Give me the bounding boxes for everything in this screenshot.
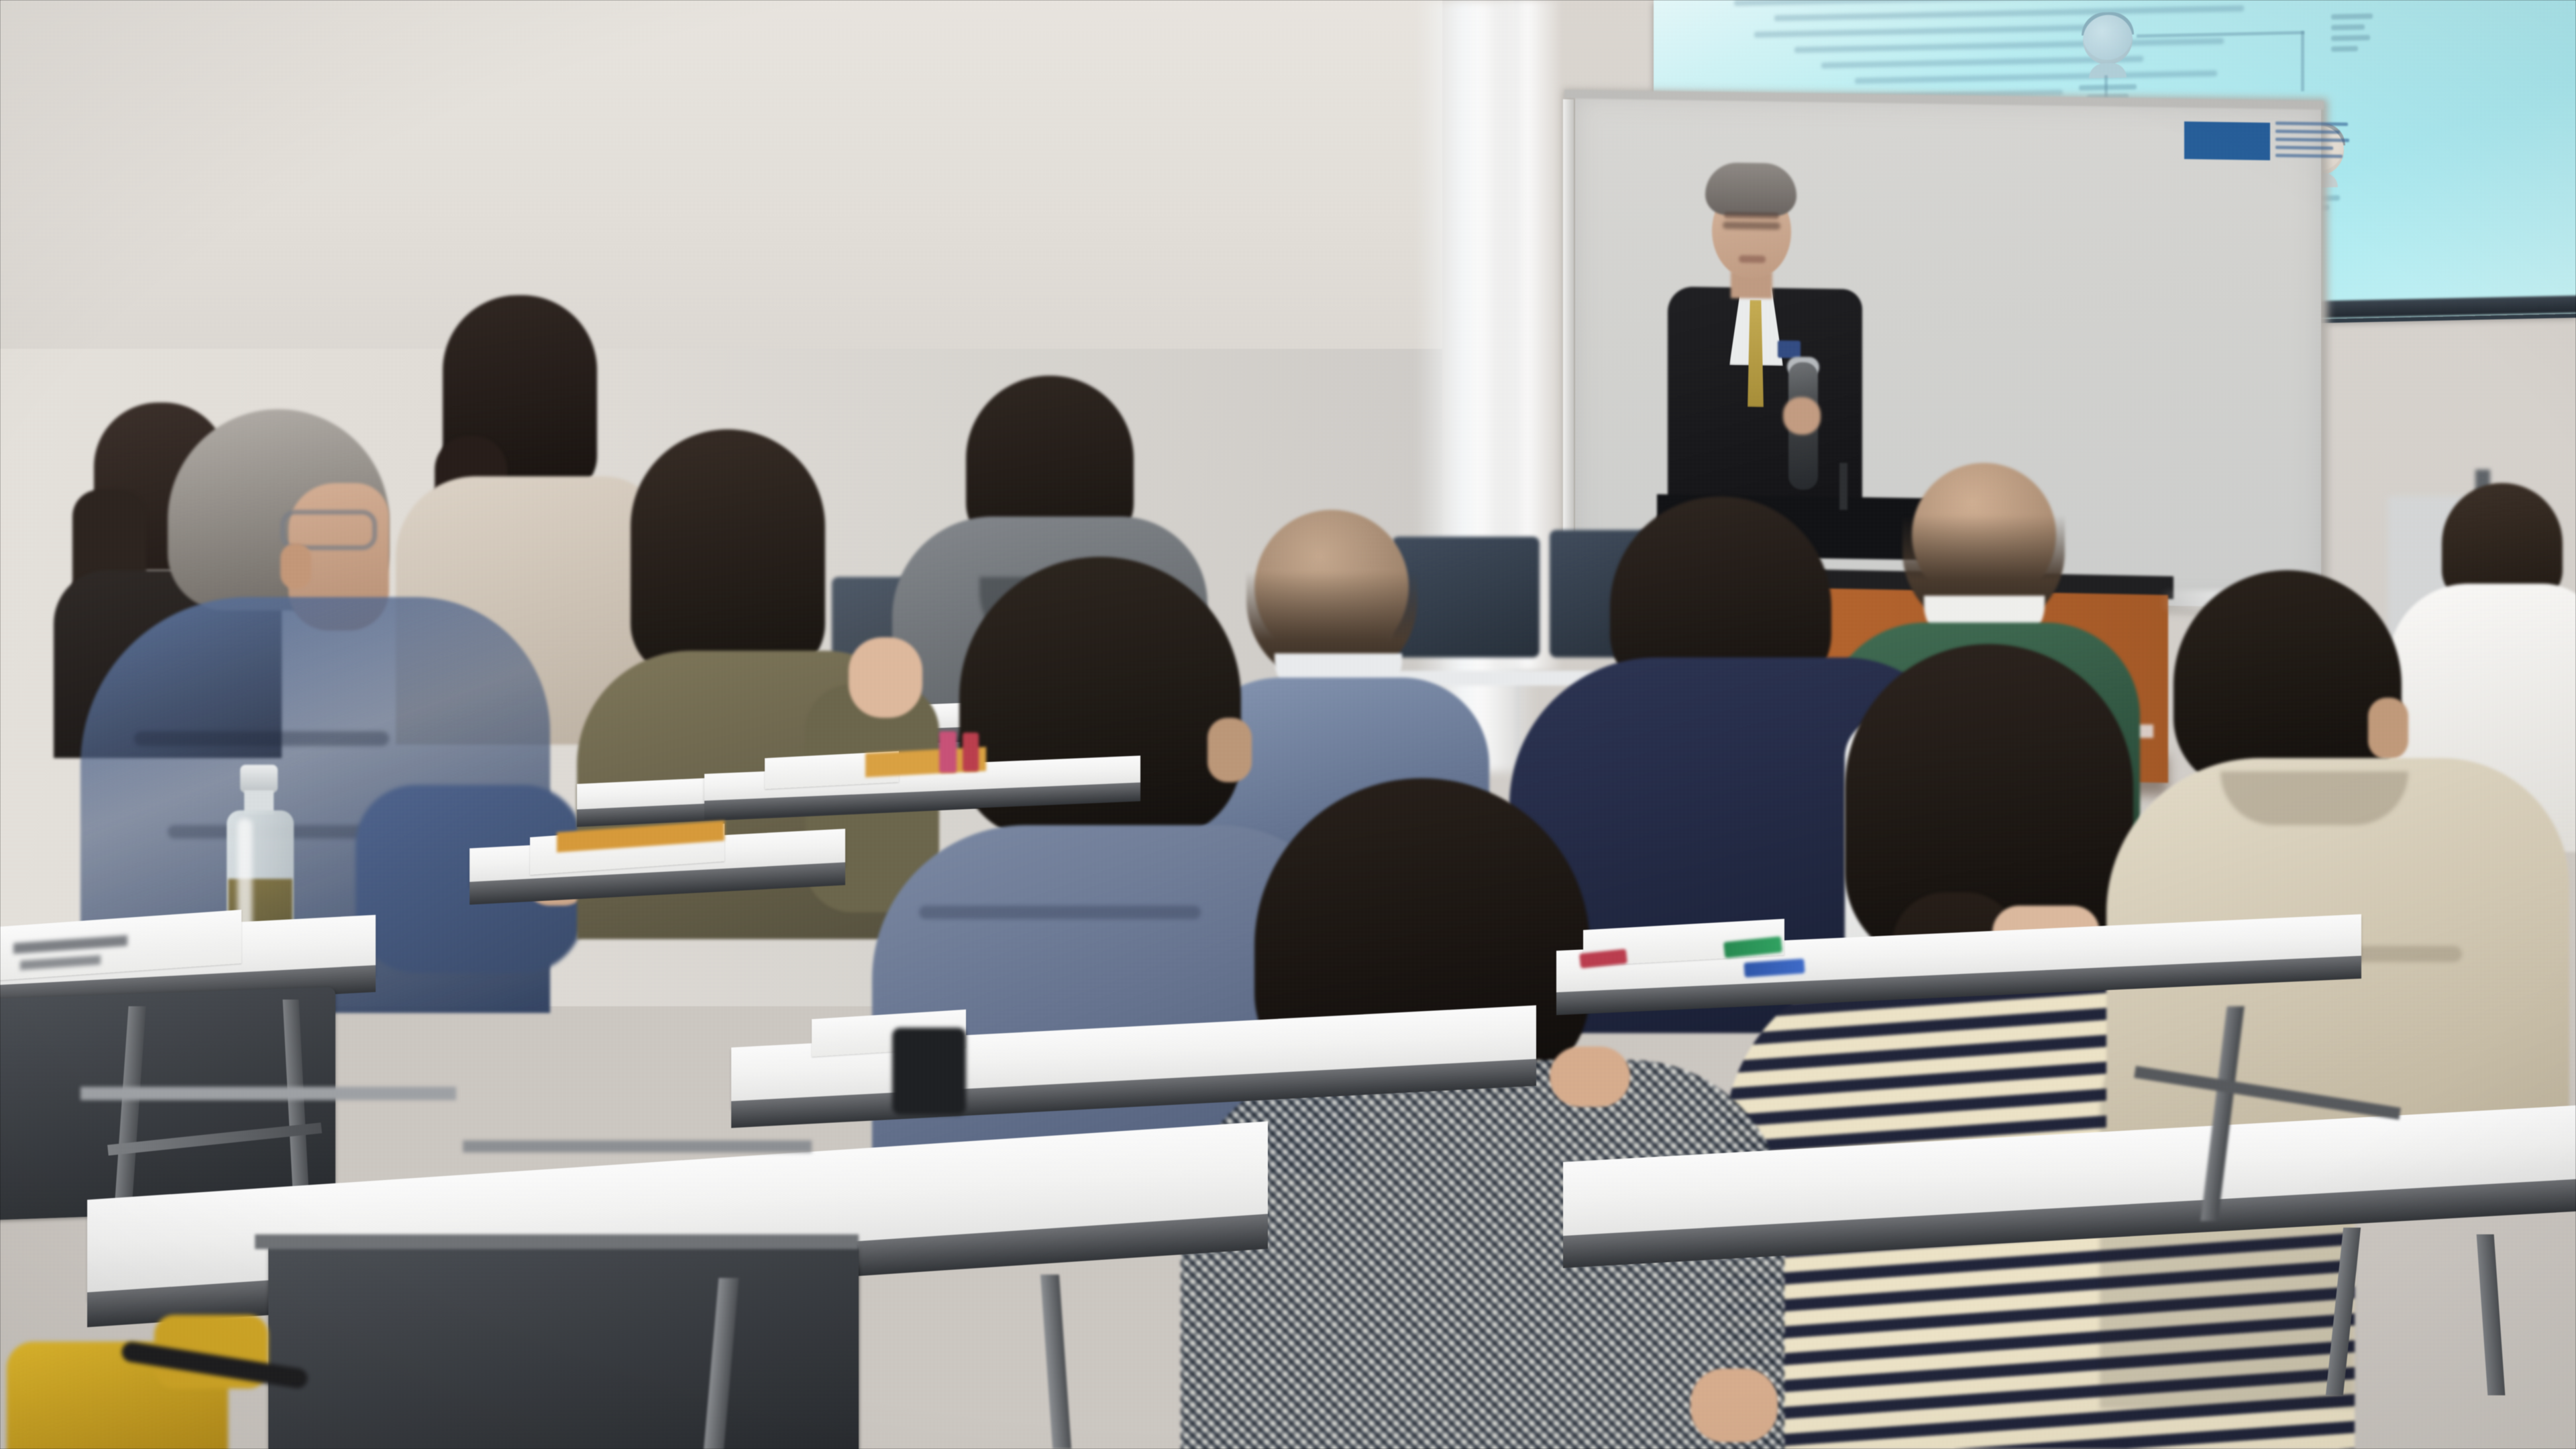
a6-ear (1207, 718, 1252, 782)
a9-hand-right (1550, 1046, 1630, 1107)
presenter-hair (1705, 162, 1796, 216)
whiteboard-logo-text (2275, 120, 2353, 163)
foreground-chair-nearest (268, 1241, 859, 1449)
slide-text-lines (1654, 0, 2445, 91)
a4-hair (631, 429, 825, 678)
a12-ear (2368, 698, 2408, 759)
presenter-mouth (1739, 256, 1766, 264)
a2-shirt-fold-1 (134, 731, 389, 746)
presenter-badge (1778, 340, 1801, 358)
pink-marker-pen (939, 731, 957, 773)
chair-frame-nearest (255, 1234, 859, 1249)
audience-person-a9 (1140, 778, 1811, 1449)
a2-ear (280, 543, 311, 589)
seminar-room-photo: Seminar room with audience facing a pres… (0, 0, 2576, 1449)
red-marker-pen (963, 733, 979, 771)
presenter-eyes (1723, 221, 1780, 229)
slide-connector-vertical-right (2301, 31, 2304, 91)
chair-frame-left-under (80, 1087, 456, 1100)
table-nearest-leg-2 (1040, 1275, 1071, 1449)
table-foreground-right-leg-2 (2477, 1234, 2506, 1395)
a12-jacket-collar (2220, 771, 2408, 825)
whiteboard-logo-block (2184, 121, 2270, 160)
back-wall-upper (0, 0, 1610, 349)
chair-frame-mid-under (463, 1140, 812, 1152)
handheld-device-black (892, 1028, 966, 1115)
bottle-cap (240, 765, 278, 793)
a9-hand-left (1690, 1368, 1778, 1442)
presenter-hand (1783, 397, 1821, 435)
presenter-brow (1724, 212, 1779, 219)
